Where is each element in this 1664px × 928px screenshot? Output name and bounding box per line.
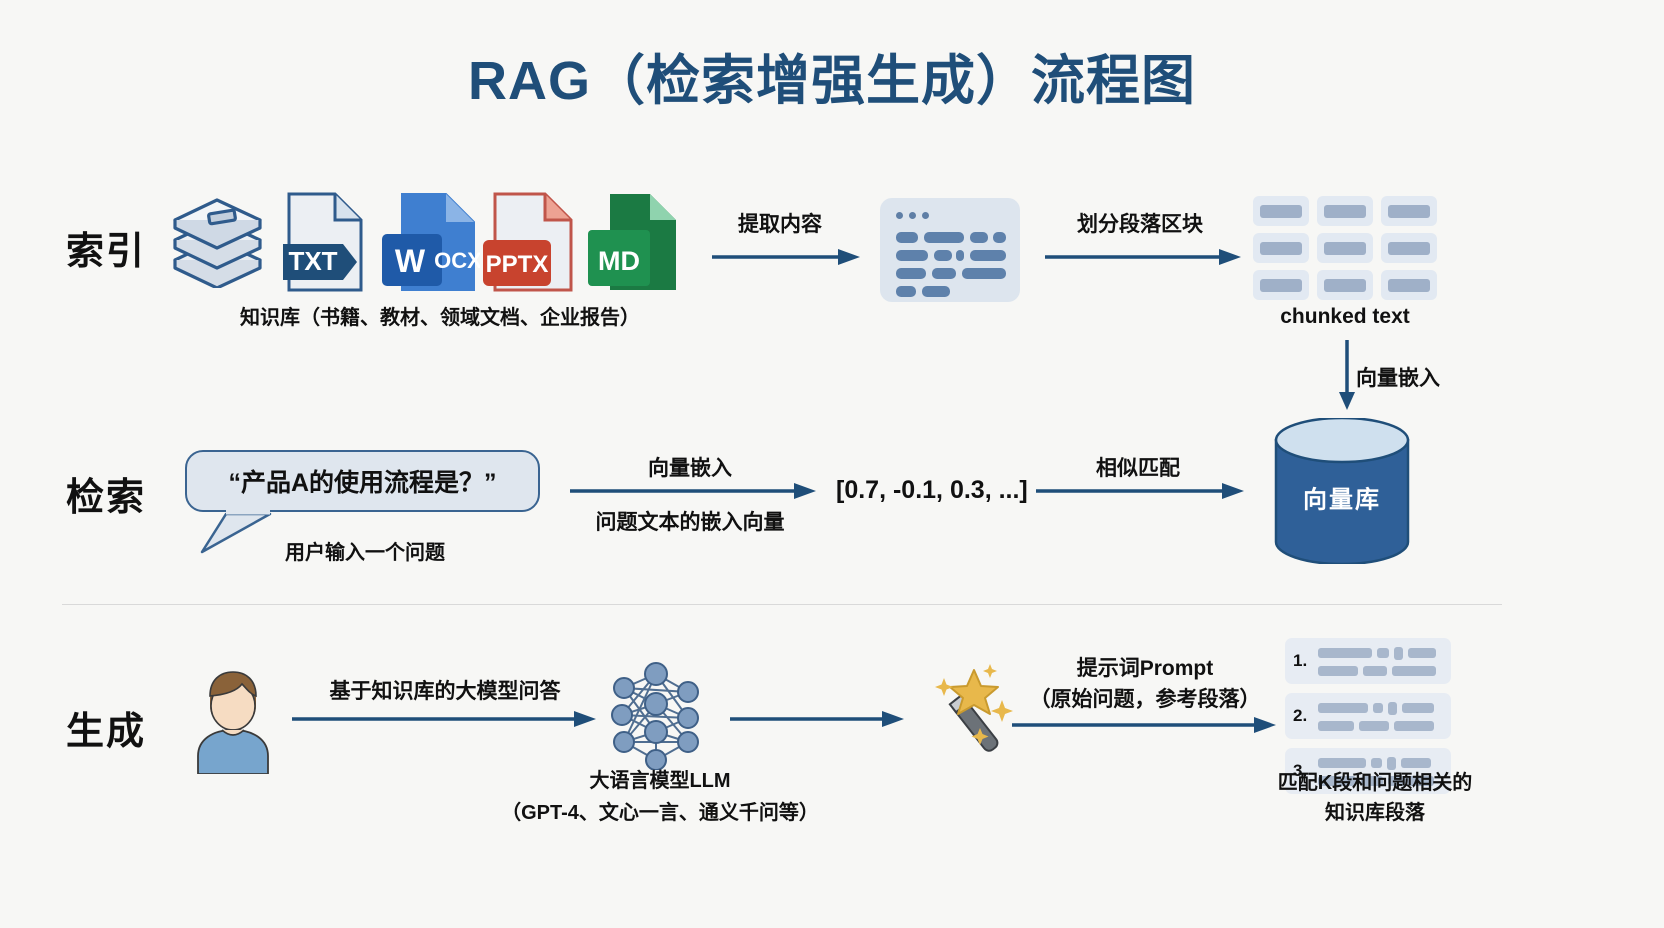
chunked-text-caption: chunked text <box>1215 303 1475 331</box>
chunked-text-grid <box>1253 196 1437 300</box>
list-item: 2. <box>1285 693 1451 739</box>
arrow-prompt <box>1012 716 1278 736</box>
svg-text:W: W <box>395 243 426 279</box>
svg-text:TXT: TXT <box>288 246 337 276</box>
arrow-embed-vertical <box>1338 340 1358 412</box>
arrow-to-prompt <box>730 710 906 730</box>
chunk-cell <box>1317 196 1373 226</box>
chunk-cell <box>1253 233 1309 263</box>
diagram-canvas: RAG（检索增强生成）流程图 索引 TXT <box>0 0 1664 928</box>
arrow-extract <box>712 248 862 268</box>
arrow-label-embed-bottom: 问题文本的嵌入向量 <box>565 506 815 536</box>
user-question-bubble: “产品A的使用流程是？” <box>185 450 540 512</box>
svg-text:OCX: OCX <box>434 248 480 273</box>
arrow-label-embed-top: 向量嵌入 <box>575 452 805 482</box>
user-avatar-icon <box>190 662 276 779</box>
row-label-generation: 生成 <box>66 700 146 755</box>
arrow-label-embed: 向量嵌入 <box>1356 362 1496 392</box>
list-item: 1. <box>1285 638 1451 684</box>
list-item-number: 1. <box>1293 651 1311 671</box>
docx-file-icon: W OCX <box>380 190 480 299</box>
arrow-label-similarity: 相似匹配 <box>1048 452 1228 482</box>
neural-network-icon <box>602 660 710 775</box>
user-question-caption: 用户输入一个问题 <box>195 540 535 567</box>
txt-file-icon: TXT <box>283 190 367 299</box>
section-divider <box>62 604 1502 605</box>
question-vector-value: [0.7, -0.1, 0.3, ...] <box>836 476 1028 505</box>
list-item-number: 2. <box>1293 706 1311 726</box>
arrow-label-kb-qa: 基于知识库的大模型问答 <box>295 675 595 705</box>
chunk-cell <box>1253 196 1309 226</box>
arrow-label-extract: 提取内容 <box>700 208 860 238</box>
vector-database-icon: 向量库 <box>1272 418 1412 569</box>
svg-text:MD: MD <box>598 246 640 276</box>
page-title: RAG（检索增强生成）流程图 <box>0 36 1664 115</box>
pptx-file-icon: PPTX <box>483 190 579 299</box>
books-icon <box>165 188 270 293</box>
results-caption-line1: 匹配K段和问题相关的 <box>1230 770 1520 797</box>
results-caption-line2: 知识库段落 <box>1230 800 1520 827</box>
arrow-label-chunk: 划分段落区块 <box>1040 208 1240 238</box>
md-file-icon: MD <box>588 190 680 299</box>
arrow-similarity <box>1036 482 1246 502</box>
chunk-cell <box>1381 233 1437 263</box>
arrow-label-prompt-line2: （原始问题，参考段落） <box>1000 683 1290 713</box>
row-label-index: 索引 <box>66 220 146 275</box>
chunk-cell <box>1381 196 1437 226</box>
sources-caption: 知识库（书籍、教材、领域文档、企业报告） <box>150 305 730 332</box>
arrow-embed-question <box>570 482 818 502</box>
row-label-retrieval: 检索 <box>66 466 146 521</box>
chunk-cell <box>1253 270 1309 300</box>
llm-caption-line2: （GPT-4、文心一言、通义千问等） <box>450 800 870 827</box>
chunk-cell <box>1317 233 1373 263</box>
arrow-label-prompt-line1: 提示词Prompt <box>1000 652 1290 682</box>
chunk-cell <box>1381 270 1437 300</box>
chunk-cell <box>1317 270 1373 300</box>
extracted-document-panel <box>880 198 1020 302</box>
vector-database-label: 向量库 <box>1272 479 1412 514</box>
llm-caption-line1: 大语言模型LLM <box>470 768 850 795</box>
arrow-kb-qa <box>292 710 598 730</box>
svg-text:PPTX: PPTX <box>486 251 549 278</box>
arrow-chunk <box>1045 248 1243 268</box>
